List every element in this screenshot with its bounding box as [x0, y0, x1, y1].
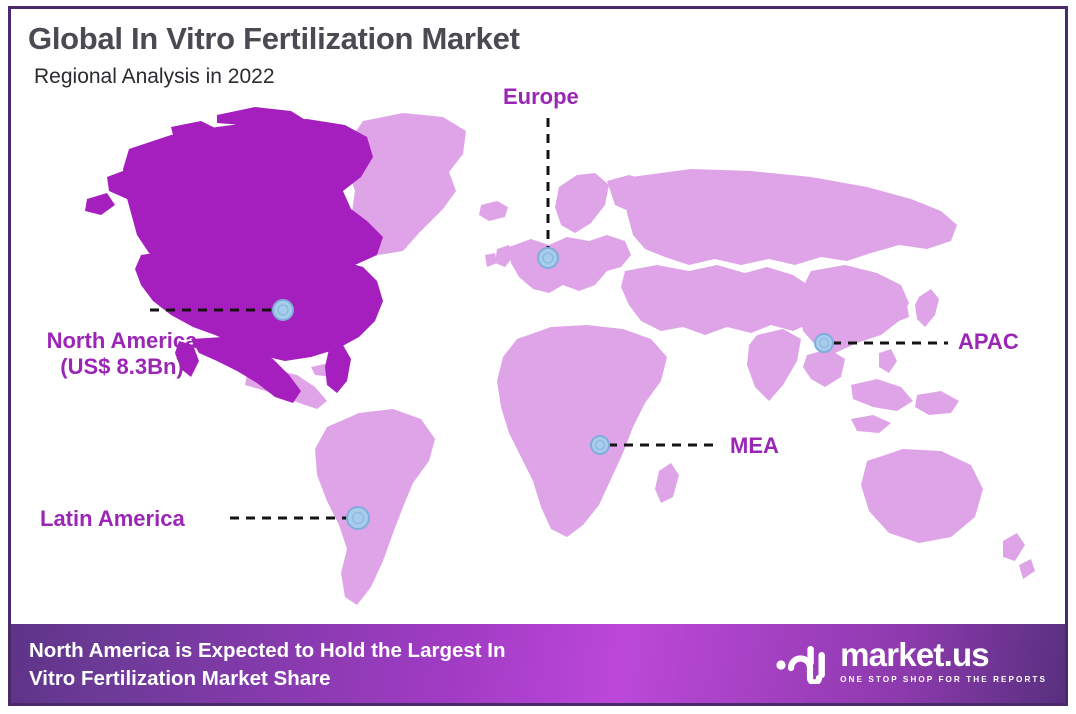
infographic-root: Global In Vitro Fertilization Market Reg… [0, 0, 1076, 714]
logo-tagline: ONE STOP SHOP FOR THE REPORTS [840, 675, 1047, 684]
region-label-north-america: North America (US$ 8.3Bn) [16, 328, 228, 380]
region-label-europe: Europe [503, 84, 579, 110]
region-label-apac: APAC [958, 329, 1019, 355]
region-label-north-america-name: North America [16, 328, 228, 354]
banner-headline-line1: North America is Expected to Hold the La… [29, 637, 729, 665]
bottom-banner: North America is Expected to Hold the La… [11, 624, 1065, 706]
region-label-mea: MEA [730, 433, 779, 459]
region-label-north-america-value: (US$ 8.3Bn) [16, 354, 228, 380]
logo-wordmark: market.us [840, 638, 1047, 671]
page-title: Global In Vitro Fertilization Market [28, 22, 520, 56]
banner-headline: North America is Expected to Hold the La… [29, 637, 729, 692]
region-label-latin-america: Latin America [40, 506, 185, 532]
banner-headline-line2: Vitro Fertilization Market Share [29, 665, 729, 693]
map-other-regions [245, 113, 1035, 605]
header-block: Global In Vitro Fertilization Market Reg… [28, 22, 520, 88]
brand-logo[interactable]: market.us ONE STOP SHOP FOR THE REPORTS [775, 638, 1047, 684]
page-subtitle: Regional Analysis in 2022 [34, 65, 520, 88]
logo-text-block: market.us ONE STOP SHOP FOR THE REPORTS [840, 638, 1047, 684]
market-us-logo-icon [775, 638, 831, 684]
